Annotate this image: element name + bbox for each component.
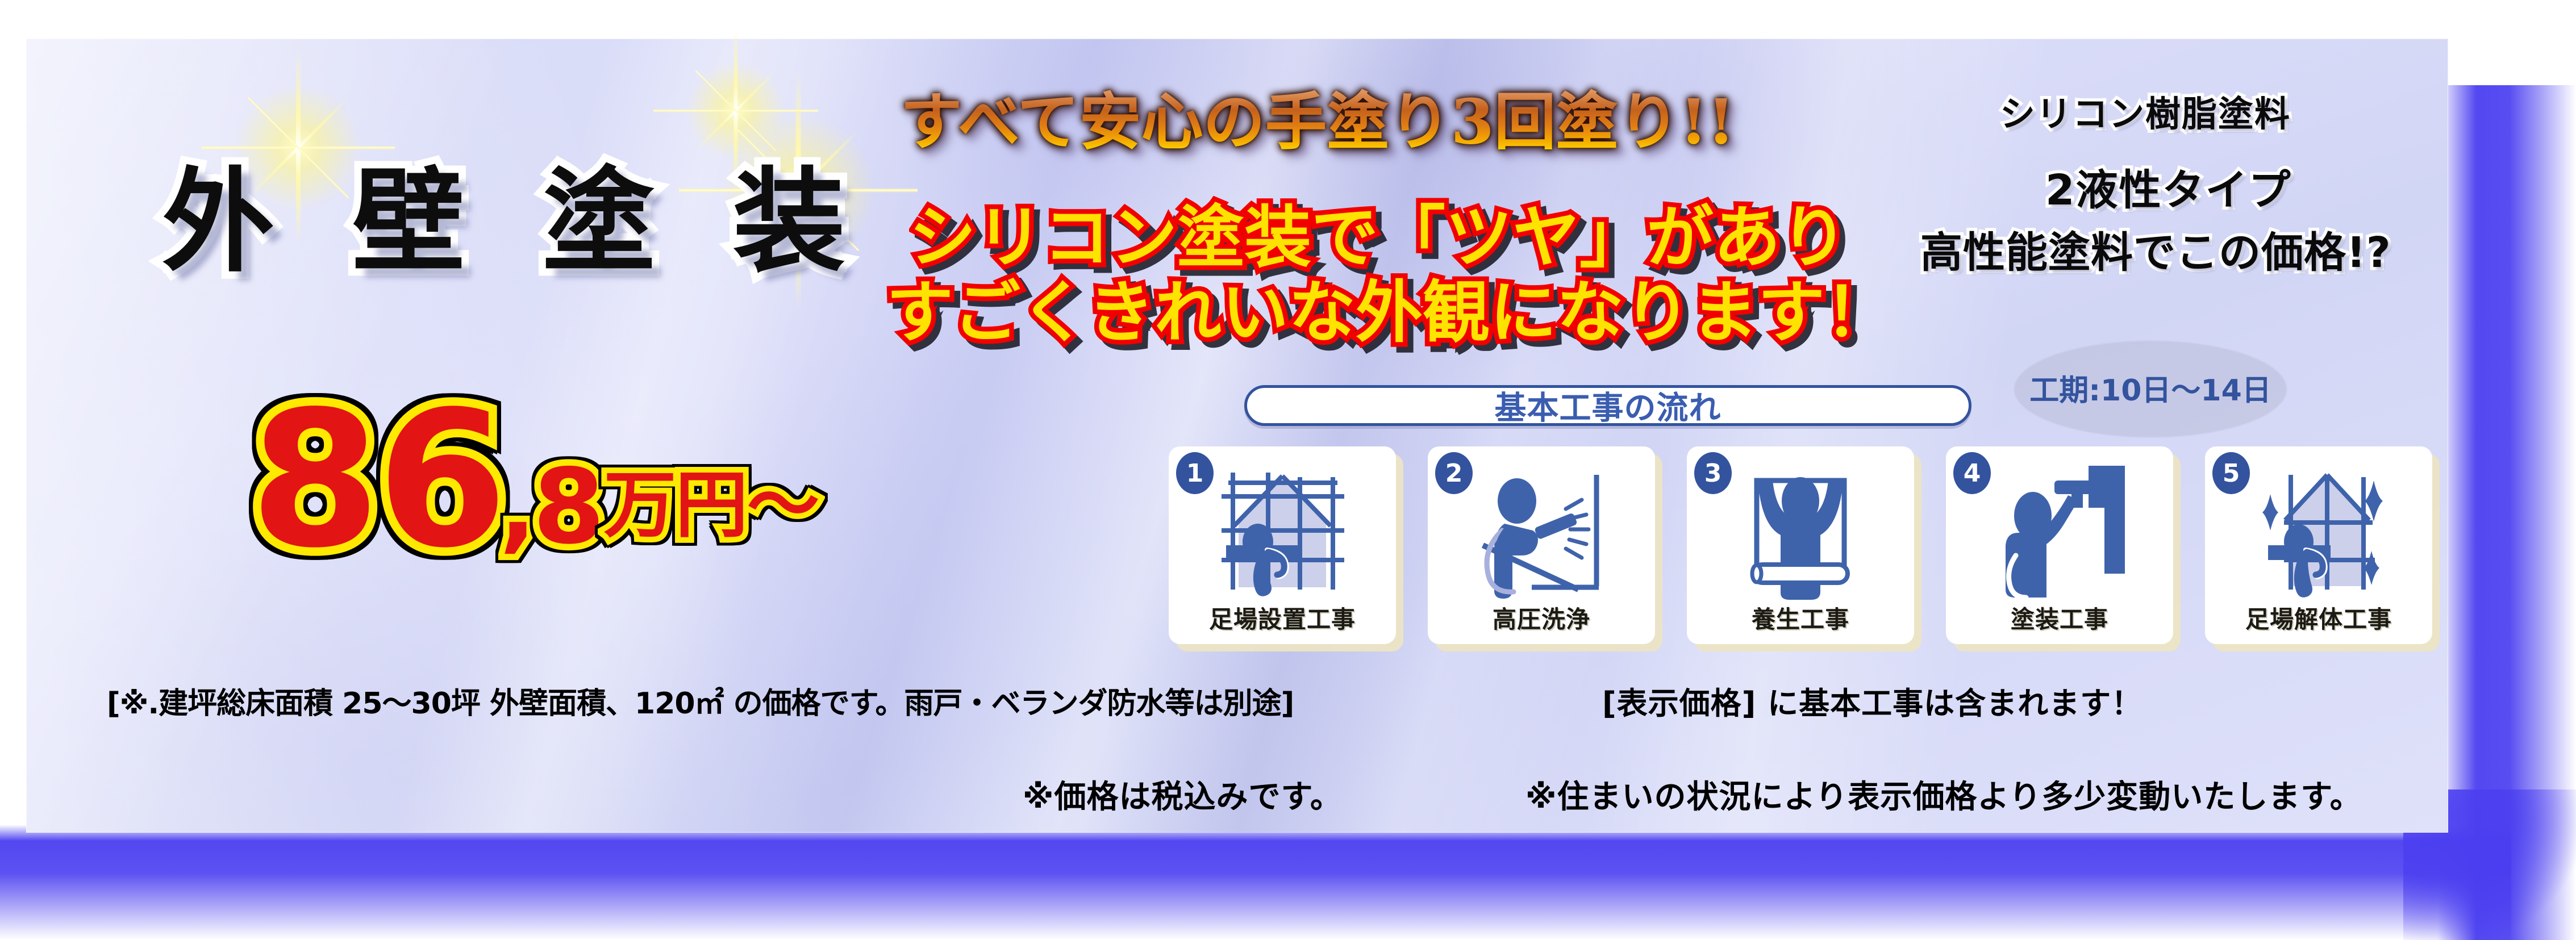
step-number-badge: 4 [1953, 452, 1991, 494]
price-unit: 万円〜 [603, 463, 818, 548]
spec-silicone-resin: シリコン樹脂塗料 [2000, 85, 2291, 136]
step-label: 足場設置工事 [1169, 600, 1396, 635]
step-label: 足場解体工事 [2205, 600, 2432, 635]
price-comma: , [499, 451, 536, 563]
glow-edge-bottom [0, 825, 2511, 940]
headline-handpaint: すべて安心の手塗り3回塗り!! [901, 73, 1735, 161]
step-number-badge: 2 [1435, 452, 1473, 494]
flow-step-card-3[interactable]: 3 養生工事 [1687, 446, 1914, 644]
flow-step-card-5[interactable]: 5 [2205, 446, 2432, 644]
flow-step-card-2[interactable]: 2 [1428, 446, 1655, 644]
headline-silicone-line1: シリコン塗装で「ツヤ」があり [909, 203, 1848, 271]
step-label: 塗装工事 [1946, 600, 2173, 635]
disclaimer-included: [表示価格] に基本工事は含まれます！ [1602, 678, 2143, 723]
flow-title-pill: 基本工事の流れ [1244, 385, 1971, 426]
price-decimal: 8 [533, 446, 605, 567]
disclaimer-area-price: [※.建坪総床面積 25〜30坪 外壁面積、120㎡ の価格です。雨戸・ベランダ… [107, 679, 1294, 722]
flow-step-card-4[interactable]: 4 塗装工事 [1946, 446, 2173, 644]
flow-steps-list: 1 [1169, 446, 2441, 651]
spec-two-part-type: 2液性タイプ [2045, 156, 2292, 217]
glow-edge-right [2437, 85, 2576, 940]
flow-step-card-1[interactable]: 1 [1169, 446, 1396, 644]
price-block: 86,8万円〜 [250, 386, 827, 574]
page-title: 外 壁 塗 装 [162, 131, 865, 294]
note-price-variation: ※住まいの状況により表示価格より多少変動いたします。 [1525, 771, 2362, 817]
price-amount: 86 [250, 371, 504, 589]
step-label: 高圧洗浄 [1428, 600, 1655, 635]
step-number-badge: 3 [1694, 452, 1732, 494]
period-badge: 工期:10日〜14日 [2020, 366, 2281, 409]
headline-silicone-line2: すごくきれいな外観になります！ [886, 278, 1892, 346]
note-tax-included: ※価格は税込みです。 [1023, 771, 1343, 817]
ad-banner: 外 壁 塗 装 すべて安心の手塗り3回塗り!! シリコン塗装で「ツヤ」があり す… [0, 0, 2576, 940]
flow-title-label: 基本工事の流れ [1247, 383, 1969, 429]
step-number-badge: 5 [2212, 452, 2250, 494]
step-number-badge: 1 [1176, 452, 1214, 494]
spec-high-performance: 高性能塗料でこの価格!? [1920, 219, 2391, 279]
step-label: 養生工事 [1687, 600, 1914, 635]
